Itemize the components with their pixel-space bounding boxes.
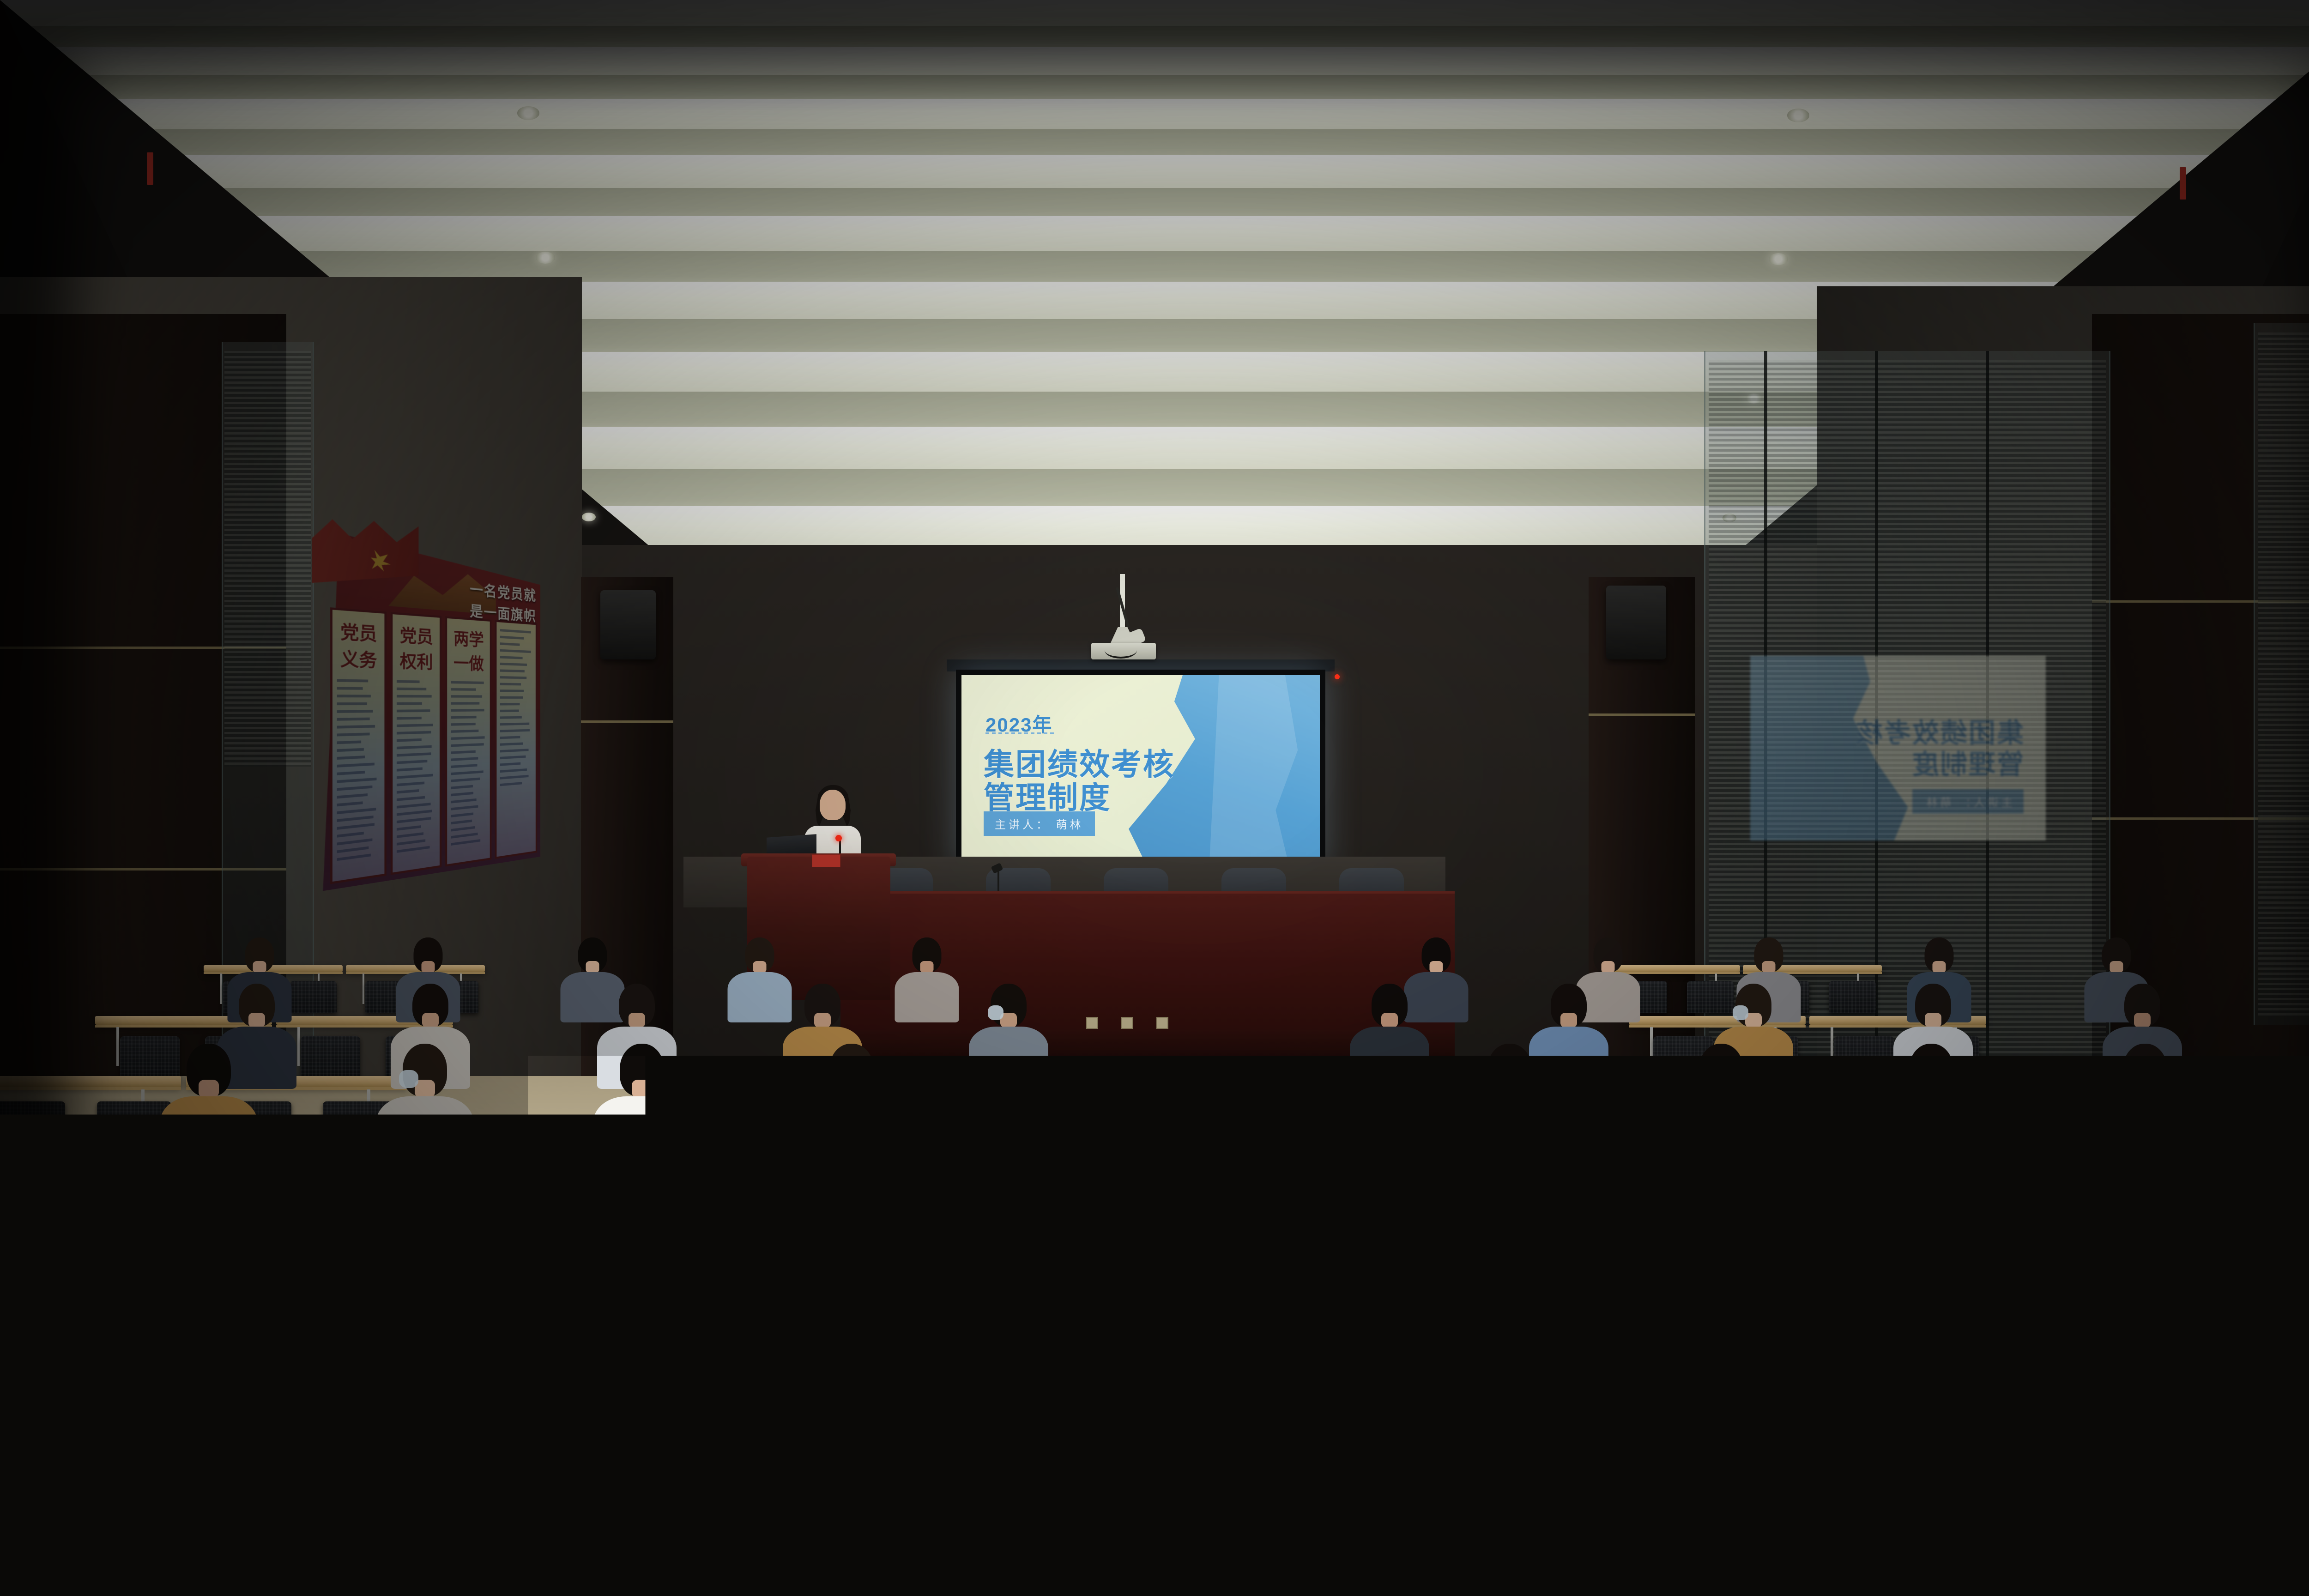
audience-neck	[248, 1013, 265, 1028]
desk-leg	[297, 1027, 300, 1066]
audience-torso	[1615, 1183, 1737, 1279]
face-mask	[1804, 1265, 1834, 1293]
screen-status-led	[1335, 674, 1340, 679]
audience-neck	[1601, 961, 1614, 973]
face-mask	[988, 1005, 1003, 1020]
desk-leg	[2047, 1172, 2051, 1233]
audience-member	[807, 1376, 1017, 1596]
audience-neck	[1762, 961, 1775, 973]
audience-neck	[1529, 1280, 1560, 1308]
projection-screen: 2023年 集团绩效考核 管理制度 主讲人： 萌林	[956, 670, 1325, 868]
party-board-panel: 党员义务	[330, 607, 387, 884]
downlight-icon	[517, 106, 539, 120]
audience-member	[1401, 1376, 1611, 1596]
audience-neck	[1381, 1013, 1398, 1028]
party-board-panel	[495, 620, 537, 859]
reflection-badge: 主讲人： 萌林	[1912, 789, 2024, 814]
audience-neck	[2134, 1013, 2151, 1028]
audience-torso	[232, 1490, 442, 1596]
audience-member	[727, 937, 792, 1022]
slide-presenter-badge: 主讲人： 萌林	[984, 811, 1095, 836]
audience-neck	[841, 1080, 862, 1098]
ceiling-light-strip	[0, 216, 2309, 251]
audience-torso	[895, 972, 959, 1022]
desk-leg	[363, 973, 364, 1004]
desk-leg	[96, 1172, 100, 1233]
audience-neck	[2174, 1280, 2206, 1308]
audience-neck	[653, 1162, 678, 1185]
audience-desk	[0, 1155, 57, 1168]
floor-outlet-2[interactable]	[1121, 1017, 1133, 1029]
audience-neck	[422, 1013, 439, 1028]
audience-neck	[1921, 1080, 1941, 1098]
audience-desk-edge	[0, 1408, 114, 1414]
chair-mesh-texture	[301, 1036, 360, 1078]
party-board-panel-title: 党员权利	[393, 621, 440, 674]
audience-torso	[727, 972, 792, 1022]
audience-member	[446, 1224, 598, 1426]
party-board-panel-text	[397, 680, 436, 853]
audience-member	[1615, 1118, 1737, 1279]
audience-neck	[421, 961, 435, 973]
audience-member	[969, 984, 1048, 1089]
audience-desk-edge	[0, 1087, 181, 1090]
chair-mesh-texture	[0, 1436, 94, 1539]
face-mask	[399, 1070, 418, 1088]
ceiling-marker-left	[147, 152, 153, 185]
audience-neck	[859, 1280, 891, 1308]
ceiling-gap-band	[0, 188, 2309, 216]
audience-neck	[2110, 961, 2123, 973]
audience-member	[1768, 1224, 1920, 1426]
audience-neck	[1925, 1013, 1941, 1028]
ceiling-gap-band	[0, 129, 2309, 155]
audience-member	[232, 1376, 442, 1596]
audience-neck	[814, 1013, 831, 1028]
audience-torso	[604, 1183, 726, 1279]
gold-trim-right	[1589, 713, 1695, 716]
blinds-far-right	[2258, 332, 2309, 1016]
presenter-head	[820, 790, 846, 820]
audience-neck	[1484, 1453, 1528, 1492]
audience-neck	[506, 1280, 538, 1308]
floor-tile-line-3	[577, 1445, 1824, 1446]
audience-desk	[0, 1385, 114, 1408]
ceiling-light-strip	[0, 47, 2309, 75]
desk-leg	[1763, 1172, 1767, 1233]
audience-neck	[2176, 1162, 2202, 1185]
chair-mesh-texture	[0, 1186, 44, 1251]
ceiling-gap-band	[0, 26, 2309, 47]
chair-mesh-texture	[290, 981, 337, 1013]
audience-neck	[1926, 1162, 1952, 1185]
audience-neck	[586, 961, 599, 973]
audience-neck	[920, 961, 933, 973]
floor-reflection-badge: 主讲人： 萌林	[1001, 1135, 1112, 1160]
face-mask	[899, 1150, 924, 1173]
audience-neck	[2013, 1453, 2057, 1492]
audience-neck	[315, 1453, 359, 1492]
party-board-panel-text	[500, 629, 532, 786]
slide-divider-rule	[985, 732, 1055, 734]
party-display-board: 党员义务党员权利两学一做 一名党员就是一面旗帜	[318, 508, 540, 892]
floor-outlet-3[interactable]	[1156, 1017, 1168, 1029]
audience-neck	[1499, 1080, 1520, 1098]
chair-mesh-texture	[2212, 1436, 2309, 1539]
podium-red-card	[812, 854, 840, 867]
audience-neck	[166, 1162, 192, 1185]
presentation-slide: 2023年 集团绩效考核 管理制度 主讲人： 萌林	[961, 675, 1320, 863]
party-board-panel-text	[451, 681, 486, 846]
audience-neck	[199, 1080, 219, 1098]
downlight-icon	[536, 252, 555, 264]
audience-torso	[1768, 1306, 1920, 1426]
chair-mesh-texture	[0, 1296, 66, 1377]
reflection-title-2: 管理制度	[1911, 743, 2024, 781]
ceiling-light-strip	[0, 0, 2309, 26]
downlight-icon	[582, 513, 596, 521]
audience-torso	[1401, 1490, 1611, 1596]
slide-title-line-2: 管理制度	[984, 773, 1111, 817]
chair-mesh-texture	[1807, 1101, 1881, 1153]
ceiling-light-strip	[0, 99, 2309, 129]
floor-outlet-1[interactable]	[1086, 1017, 1098, 1029]
audience-neck	[629, 1013, 645, 1028]
party-board-panel-title: 党员义务	[332, 617, 385, 672]
audience-member	[1930, 1376, 2140, 1596]
face-mask	[402, 1150, 426, 1173]
audience-neck	[753, 961, 766, 973]
audience-neck	[253, 961, 266, 973]
desk-leg	[116, 1027, 119, 1066]
audience-neck	[1560, 1013, 1577, 1028]
party-board-panel: 党员权利	[391, 612, 441, 875]
gold-trim-left	[581, 720, 673, 723]
audience-member	[1350, 984, 1429, 1089]
party-board-panel-text	[337, 679, 381, 861]
audience-torso	[446, 1306, 598, 1426]
face-mask	[1733, 1005, 1748, 1020]
slide-reflection-glass: 集团绩效考核 管理制度 主讲人： 萌林	[1750, 656, 2046, 840]
audience-member	[895, 937, 959, 1022]
downlight-icon	[1769, 253, 1788, 265]
audience-neck	[1415, 1162, 1441, 1185]
ceiling-light-strip	[0, 155, 2309, 188]
desk-leg	[1650, 1027, 1653, 1066]
projector-cable	[1105, 642, 1137, 659]
audience-member	[604, 1118, 726, 1279]
downlight-icon	[1787, 109, 1809, 122]
conference-room-scene: 集团绩效考核 管理制度 主讲人： 萌林 党员义务党员权利两学一做 一名党员就是一…	[0, 0, 2309, 1596]
audience-neck	[890, 1453, 934, 1492]
wall-speaker-right	[1606, 586, 1666, 659]
audience-neck	[1711, 1080, 1731, 1098]
ceiling-gap-band	[0, 75, 2309, 99]
audience-torso	[807, 1490, 1017, 1596]
audience-neck	[2135, 1080, 2155, 1098]
blinds-left	[224, 351, 311, 767]
audience-neck	[632, 1080, 652, 1098]
audience-torso	[1350, 1027, 1429, 1089]
floor-reflection-title-2: 管理制度	[1001, 1187, 1118, 1227]
audience-desk	[0, 1076, 181, 1087]
audience-neck	[1932, 961, 1946, 973]
audience-torso	[969, 1027, 1048, 1089]
wall-speaker-left	[600, 590, 656, 659]
party-board-headline: 一名党员就是一面旗帜	[470, 577, 548, 618]
chair-mesh-texture	[0, 1101, 65, 1153]
audience-neck	[1429, 961, 1443, 973]
podium-mic-led	[835, 835, 842, 841]
face-mask	[1644, 1150, 1668, 1173]
floor-slide-reflection: 集团绩效考核 管理制度 主讲人： 萌林	[979, 1108, 1339, 1325]
party-board-panel-title: 两学一做	[447, 624, 490, 675]
chair-mesh-texture	[1829, 981, 1876, 1013]
desk-leg	[1831, 1027, 1833, 1066]
audience-torso	[1930, 1490, 2140, 1596]
audience-neck	[176, 1280, 208, 1308]
ceiling-marker-right	[2180, 167, 2186, 199]
party-board-panel: 两学一做	[445, 616, 491, 866]
